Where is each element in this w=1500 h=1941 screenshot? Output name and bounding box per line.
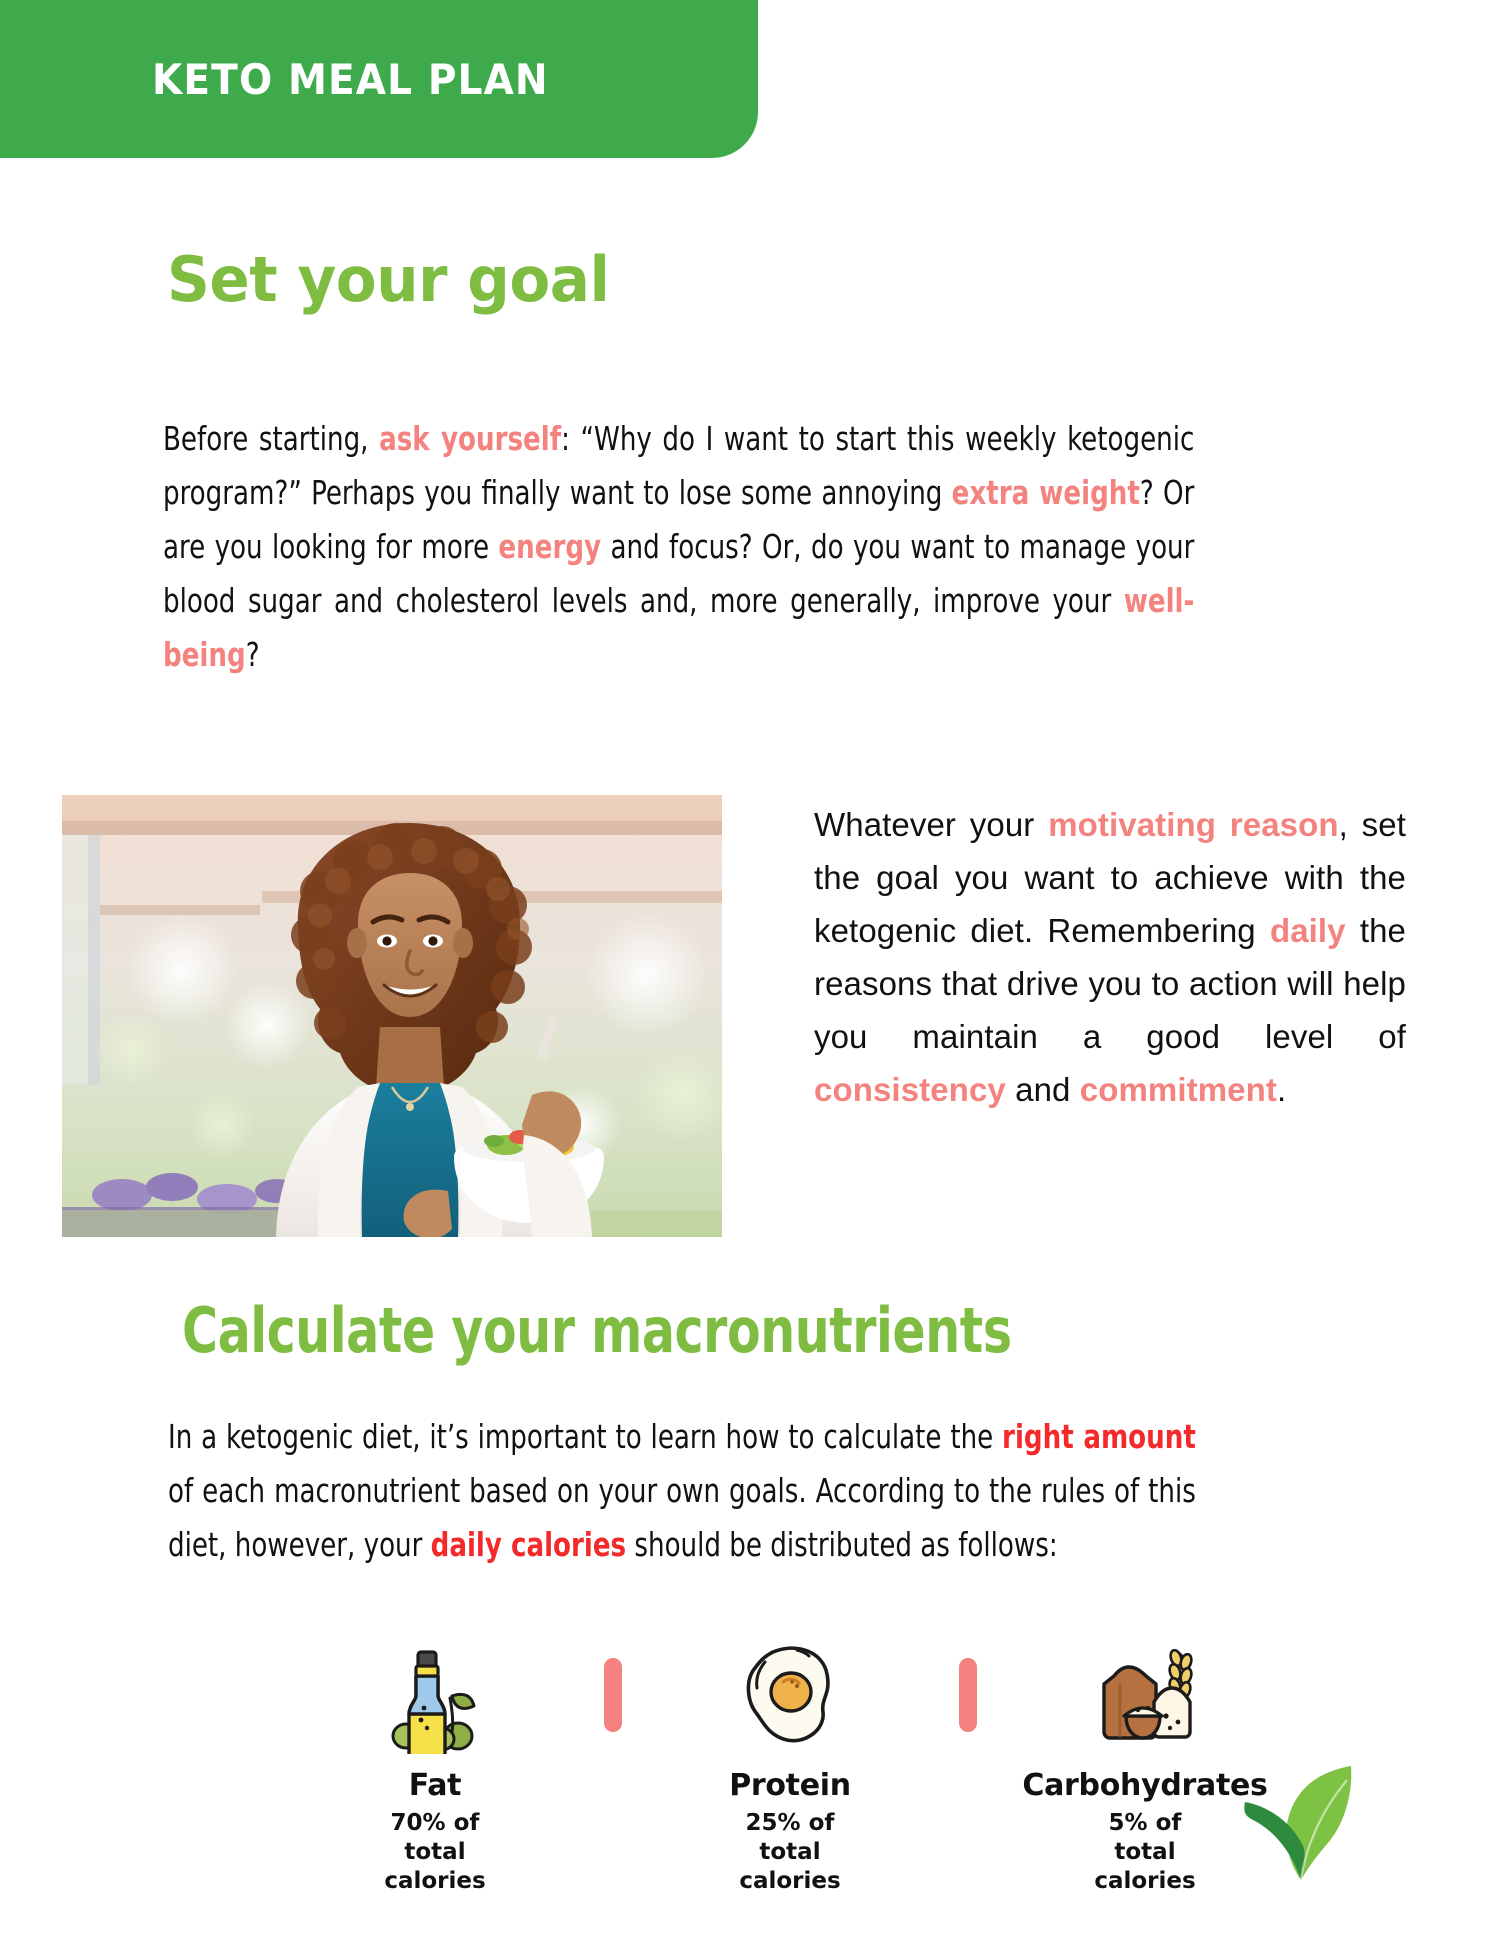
text-run: Whatever your [814, 806, 1048, 843]
text-run: ? [246, 635, 260, 674]
macro-card-fat: Fat 70% oftotalcalories [330, 1636, 540, 1896]
macro-card-protein: Protein 25% oftotalcalories [685, 1636, 895, 1896]
macro-label-fat: Fat [409, 1768, 461, 1803]
fried-egg-icon [735, 1636, 845, 1754]
highlight-red: right amount [1002, 1417, 1196, 1456]
olive-oil-bottle-icon [380, 1636, 490, 1754]
macro-divider-1 [604, 1658, 622, 1732]
macronutrients-paragraph: In a ketogenic diet, it’s important to l… [168, 1410, 1196, 1572]
page-title: KETO MEAL PLAN [152, 55, 549, 104]
macro-card-carbohydrates: Carbohydrates 5% oftotalcalories [1040, 1636, 1250, 1896]
macro-sub-carbohydrates: 5% oftotalcalories [1094, 1809, 1195, 1896]
macro-sub-protein: 25% oftotalcalories [739, 1809, 840, 1896]
goal-side-paragraph: Whatever your motivating reason, set the… [814, 798, 1406, 1116]
highlight-coral: motivating reason [1048, 806, 1338, 843]
text-run: Before starting, [163, 419, 379, 458]
macro-label-carbohydrates: Carbohydrates [1022, 1768, 1267, 1803]
text-run: should be distributed as follows: [626, 1525, 1058, 1564]
text-run: and [1006, 1071, 1080, 1108]
text-run: . [1277, 1071, 1286, 1108]
highlight-coral: consistency [814, 1071, 1006, 1108]
woman-with-salad-photo [62, 795, 722, 1237]
highlight-coral: ask yourself [379, 419, 561, 458]
section-heading-set-your-goal: Set your goal [167, 243, 609, 316]
text-run: In a ketogenic diet, it’s important to l… [168, 1417, 1002, 1456]
macro-label-protein: Protein [729, 1768, 851, 1803]
highlight-coral: daily [1270, 912, 1346, 949]
macronutrient-breakdown: Fat 70% oftotalcalories Protein 25% ofto… [330, 1636, 1250, 1926]
macro-divider-2 [959, 1658, 977, 1732]
macro-sub-fat: 70% oftotalcalories [384, 1809, 485, 1896]
highlight-coral: extra weight [952, 473, 1140, 512]
highlight-coral: energy [498, 527, 601, 566]
section-heading-calculate-macronutrients: Calculate your macronutrients [182, 1294, 1012, 1367]
header-banner: KETO MEAL PLAN [0, 0, 758, 158]
intro-paragraph: Before starting, ask yourself: “Why do I… [163, 412, 1194, 682]
highlight-coral: commitment [1080, 1071, 1277, 1108]
flour-sack-bread-icon [1090, 1636, 1200, 1754]
leaf-logo-icon [1243, 1762, 1355, 1882]
goal-media-row: Whatever your motivating reason, set the… [62, 795, 1407, 1240]
highlight-red: daily calories [431, 1525, 626, 1564]
